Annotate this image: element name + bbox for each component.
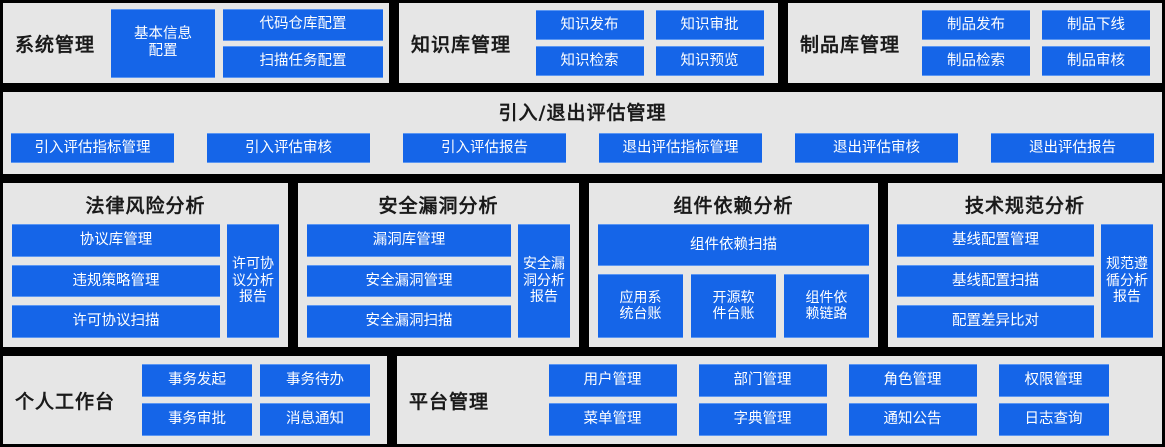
panel-title-legal-risk-analysis: 法律风险分析 — [3, 183, 288, 218]
button-intro-eval-metrics-management[interactable]: 引入评估指标管理 — [11, 133, 174, 163]
panel-technical-standard-analysis: 技术规范分析 基线配置管理 基线配置扫描 配置差异比对 规范遵循分析报告 — [885, 180, 1165, 350]
button-standard-compliance-analysis-report-label: 规范遵循分析报告 — [1101, 256, 1153, 306]
button-exit-eval-review[interactable]: 退出评估审核 — [795, 133, 958, 163]
button-basic-info-config[interactable]: 基本信息 配置 — [111, 9, 215, 78]
panel-title-technical-standard-analysis: 技术规范分析 — [888, 183, 1162, 218]
button-user-management[interactable]: 用户管理 — [549, 364, 677, 397]
panel-body-intro-exit-evaluation: 引入评估指标管理 引入评估审核 引入评估报告 退出评估指标管理 退出评估审核 退… — [3, 125, 1162, 169]
analysis-row: 法律风险分析 协议库管理 违规策略管理 许可协议扫描 许可协议分析报告 安全漏洞… — [0, 180, 1165, 350]
button-component-dependency-chain[interactable]: 组件依 赖链路 — [784, 274, 869, 338]
button-knowledge-preview[interactable]: 知识预览 — [656, 46, 764, 76]
button-license-analysis-report[interactable]: 许可协议分析报告 — [227, 224, 279, 338]
panel-artifact-repo-management: 制品库管理 制品发布 制品下线 制品检索 制品审核 — [785, 0, 1165, 86]
button-scan-task-config[interactable]: 扫描任务配置 — [223, 46, 383, 78]
button-message-notification[interactable]: 消息通知 — [260, 403, 370, 436]
button-security-vulnerability-scan[interactable]: 安全漏洞扫描 — [307, 305, 511, 338]
panel-knowledge-base-management: 知识库管理 知识发布 知识审批 知识检索 知识预览 — [396, 0, 781, 86]
panel-title-component-dependency-analysis: 组件依赖分析 — [589, 183, 878, 218]
button-code-repo-config[interactable]: 代码仓库配置 — [223, 9, 383, 41]
button-dictionary-management[interactable]: 字典管理 — [699, 403, 827, 436]
button-permission-management[interactable]: 权限管理 — [999, 364, 1109, 397]
button-component-dependency-scan[interactable]: 组件依赖扫描 — [598, 224, 869, 266]
panel-intro-exit-evaluation: 引入/退出评估管理 引入评估指标管理 引入评估审核 引入评估报告 退出评估指标管… — [0, 89, 1165, 177]
button-license-agreement-scan[interactable]: 许可协议扫描 — [12, 305, 220, 338]
top-row: 系统管理 基本信息 配置 代码仓库配置 扫描任务配置 知识库管理 知识发布 知识… — [0, 0, 1165, 86]
button-task-approval[interactable]: 事务审批 — [142, 403, 252, 436]
button-intro-eval-review[interactable]: 引入评估审核 — [207, 133, 370, 163]
panel-title-intro-exit-evaluation: 引入/退出评估管理 — [3, 92, 1162, 125]
button-violation-policy-management[interactable]: 违规策略管理 — [12, 265, 220, 298]
panel-body-system-management: 基本信息 配置 代码仓库配置 扫描任务配置 — [105, 5, 389, 82]
panel-component-dependency-analysis: 组件依赖分析 组件依赖扫描 应用系 统台账 开源软 件台账 组件依 赖链路 — [586, 180, 881, 350]
button-application-system-ledger[interactable]: 应用系 统台账 — [598, 274, 683, 338]
architecture-board: 系统管理 基本信息 配置 代码仓库配置 扫描任务配置 知识库管理 知识发布 知识… — [0, 0, 1165, 447]
panel-body-platform-management: 用户管理 部门管理 角色管理 权限管理 菜单管理 字典管理 通知公告 日志查询 — [499, 360, 1162, 440]
button-intro-eval-report[interactable]: 引入评估报告 — [403, 133, 566, 163]
button-stack-legal: 协议库管理 违规策略管理 许可协议扫描 — [12, 224, 220, 338]
panel-body-security-vulnerability-analysis: 漏洞库管理 安全漏洞管理 安全漏洞扫描 安全漏洞分析报告 — [298, 218, 579, 347]
panel-platform-management: 平台管理 用户管理 部门管理 角色管理 权限管理 菜单管理 字典管理 通知公告 … — [394, 353, 1165, 447]
button-stack-technical: 基线配置管理 基线配置扫描 配置差异比对 — [897, 224, 1094, 338]
button-open-source-software-ledger[interactable]: 开源软 件台账 — [691, 274, 776, 338]
panel-title-personal-workbench: 个人工作台 — [3, 387, 125, 414]
button-baseline-config-scan[interactable]: 基线配置扫描 — [897, 265, 1094, 298]
button-artifact-offline[interactable]: 制品下线 — [1042, 10, 1150, 40]
panel-personal-workbench: 个人工作台 事务发起 事务待办 事务审批 消息通知 — [0, 353, 390, 447]
button-knowledge-publish[interactable]: 知识发布 — [536, 10, 644, 40]
button-baseline-config-management[interactable]: 基线配置管理 — [897, 224, 1094, 257]
button-role-management[interactable]: 角色管理 — [849, 364, 977, 397]
panel-title-security-vulnerability-analysis: 安全漏洞分析 — [298, 183, 579, 218]
button-artifact-review[interactable]: 制品审核 — [1042, 46, 1150, 76]
panel-body-legal-risk-analysis: 协议库管理 违规策略管理 许可协议扫描 许可协议分析报告 — [3, 218, 288, 347]
button-menu-management[interactable]: 菜单管理 — [549, 403, 677, 436]
panel-body-knowledge-base-management: 知识发布 知识审批 知识检索 知识预览 — [521, 6, 778, 80]
button-vulnerability-analysis-report[interactable]: 安全漏洞分析报告 — [518, 224, 570, 338]
button-config-difference-comparison[interactable]: 配置差异比对 — [897, 305, 1094, 338]
button-task-initiate[interactable]: 事务发起 — [142, 364, 252, 397]
panel-body-personal-workbench: 事务发起 事务待办 事务审批 消息通知 — [125, 360, 387, 440]
button-department-management[interactable]: 部门管理 — [699, 364, 827, 397]
button-knowledge-search[interactable]: 知识检索 — [536, 46, 644, 76]
button-artifact-publish[interactable]: 制品发布 — [922, 10, 1030, 40]
panel-security-vulnerability-analysis: 安全漏洞分析 漏洞库管理 安全漏洞管理 安全漏洞扫描 安全漏洞分析报告 — [295, 180, 582, 350]
button-group-component-ledgers: 应用系 统台账 开源软 件台账 组件依 赖链路 — [598, 274, 869, 338]
button-license-analysis-report-label: 许可协议分析报告 — [227, 256, 279, 306]
button-notice-announcement[interactable]: 通知公告 — [849, 403, 977, 436]
panel-body-component-dependency-analysis: 组件依赖扫描 应用系 统台账 开源软 件台账 组件依 赖链路 — [589, 218, 878, 347]
button-security-vulnerability-management[interactable]: 安全漏洞管理 — [307, 265, 511, 298]
button-standard-compliance-analysis-report[interactable]: 规范遵循分析报告 — [1101, 224, 1153, 338]
panel-body-technical-standard-analysis: 基线配置管理 基线配置扫描 配置差异比对 规范遵循分析报告 — [888, 218, 1162, 347]
bottom-row: 个人工作台 事务发起 事务待办 事务审批 消息通知 平台管理 用户管理 部门管理… — [0, 353, 1165, 447]
evaluation-row: 引入/退出评估管理 引入评估指标管理 引入评估审核 引入评估报告 退出评估指标管… — [0, 89, 1165, 177]
panel-title-knowledge-base-management: 知识库管理 — [399, 30, 521, 57]
button-vulnerability-repo-management[interactable]: 漏洞库管理 — [307, 224, 511, 257]
button-stack-vulnerability: 漏洞库管理 安全漏洞管理 安全漏洞扫描 — [307, 224, 511, 338]
button-log-query[interactable]: 日志查询 — [999, 403, 1109, 436]
panel-body-artifact-repo-management: 制品发布 制品下线 制品检索 制品审核 — [910, 6, 1162, 80]
button-exit-eval-metrics-management[interactable]: 退出评估指标管理 — [599, 133, 762, 163]
panel-system-management: 系统管理 基本信息 配置 代码仓库配置 扫描任务配置 — [0, 0, 392, 86]
button-license-repo-management[interactable]: 协议库管理 — [12, 224, 220, 257]
button-vulnerability-analysis-report-label: 安全漏洞分析报告 — [518, 256, 570, 306]
button-artifact-search[interactable]: 制品检索 — [922, 46, 1030, 76]
panel-title-artifact-repo-management: 制品库管理 — [788, 30, 910, 57]
button-knowledge-approval[interactable]: 知识审批 — [656, 10, 764, 40]
panel-title-system-management: 系统管理 — [3, 30, 105, 57]
panel-title-platform-management: 平台管理 — [397, 387, 499, 414]
panel-legal-risk-analysis: 法律风险分析 协议库管理 违规策略管理 许可协议扫描 许可协议分析报告 — [0, 180, 291, 350]
button-exit-eval-report[interactable]: 退出评估报告 — [991, 133, 1154, 163]
button-task-todo[interactable]: 事务待办 — [260, 364, 370, 397]
